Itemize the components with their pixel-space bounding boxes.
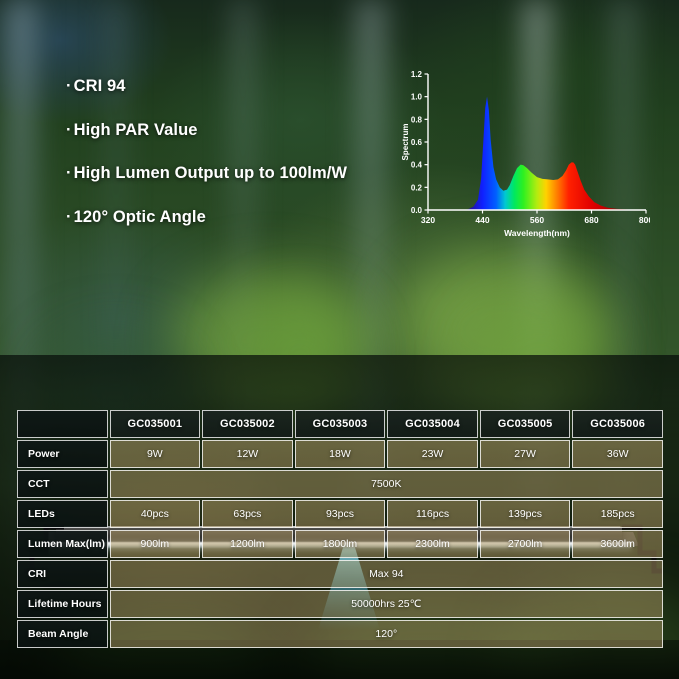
feature-item-par: ·High PAR Value (66, 122, 386, 139)
product-marketing-image: ·CRI 94 ·High PAR Value ·High Lumen Outp… (0, 0, 679, 679)
feature-text: High Lumen Output up to 100lm/W (74, 164, 348, 182)
row-value-cell: 12W (202, 440, 293, 468)
led-fixture (0, 255, 679, 365)
model-header-cell: GC035005 (480, 410, 571, 438)
model-header-cell: GC035003 (295, 410, 386, 438)
row-label-cell: CCT (17, 470, 108, 498)
row-value-cell: 93pcs (295, 500, 386, 528)
row-value-cell: 185pcs (572, 500, 663, 528)
row-value-cell: 2300lm (387, 530, 478, 558)
spectrum-chart: 0.00.20.40.60.81.01.2320440560680800Wave… (398, 62, 650, 240)
table-row: LEDs40pcs63pcs93pcs116pcs139pcs185pcs (17, 500, 663, 528)
row-label-cell: Beam Angle (17, 620, 108, 648)
row-value-cell: 27W (480, 440, 571, 468)
y-axis-tick-label: 0.8 (411, 115, 423, 124)
row-value-cell: 1800lm (295, 530, 386, 558)
row-value-cell: 63pcs (202, 500, 293, 528)
x-axis-tick-label: 560 (530, 215, 544, 225)
feature-item-optic-angle: ·120° Optic Angle (66, 209, 386, 226)
row-label-cell: Lumen Max(lm) (17, 530, 108, 558)
row-value-cell: 23W (387, 440, 478, 468)
x-axis-title: Wavelength(nm) (504, 228, 570, 238)
table-header-row: GC035001GC035002GC035003GC035004GC035005… (17, 410, 663, 438)
feature-item-lumen: ·High Lumen Output up to 100lm/W (66, 165, 386, 182)
feature-text: CRI 94 (74, 77, 126, 95)
table-row: Beam Angle120° (17, 620, 663, 648)
row-merged-value-cell: 7500K (110, 470, 663, 498)
row-value-cell: 9W (110, 440, 201, 468)
row-value-cell: 1200lm (202, 530, 293, 558)
table-row: CCT7500K (17, 470, 663, 498)
row-merged-value-cell: 120° (110, 620, 663, 648)
feature-item-cri: ·CRI 94 (66, 78, 386, 95)
row-label-cell: Lifetime Hours (17, 590, 108, 618)
row-value-cell: 40pcs (110, 500, 201, 528)
row-label-cell: CRI (17, 560, 108, 588)
x-axis-tick-label: 680 (584, 215, 598, 225)
row-value-cell: 18W (295, 440, 386, 468)
y-axis-title: Spectrum (401, 124, 410, 161)
model-header-cell: GC035001 (110, 410, 201, 438)
bullet-dot: · (66, 77, 72, 95)
table-corner-cell (17, 410, 108, 438)
bullet-dot: · (66, 121, 72, 139)
y-axis-tick-label: 0.0 (411, 206, 423, 215)
x-axis-tick-label: 440 (475, 215, 489, 225)
row-label-cell: Power (17, 440, 108, 468)
row-label-cell: LEDs (17, 500, 108, 528)
row-value-cell: 3600lm (572, 530, 663, 558)
row-merged-value-cell: 50000hrs 25℃ (110, 590, 663, 618)
y-axis-tick-label: 0.4 (411, 161, 423, 170)
table-row: Lumen Max(lm)900lm1200lm1800lm2300lm2700… (17, 530, 663, 558)
x-axis-tick-label: 800 (639, 215, 650, 225)
bullet-dot: · (66, 208, 72, 226)
row-value-cell: 139pcs (480, 500, 571, 528)
feature-list: ·CRI 94 ·High PAR Value ·High Lumen Outp… (66, 78, 386, 225)
row-value-cell: 2700lm (480, 530, 571, 558)
spectrum-curve (428, 97, 646, 210)
row-value-cell: 900lm (110, 530, 201, 558)
model-header-cell: GC035006 (572, 410, 663, 438)
x-axis-tick-label: 320 (421, 215, 435, 225)
feature-text: 120° Optic Angle (74, 208, 206, 226)
y-axis-tick-label: 1.2 (411, 70, 423, 79)
feature-text: High PAR Value (74, 121, 198, 139)
table-row: CRIMax 94 (17, 560, 663, 588)
spectrum-chart-svg: 0.00.20.40.60.81.01.2320440560680800Wave… (398, 62, 650, 240)
row-merged-value-cell: Max 94 (110, 560, 663, 588)
y-axis-tick-label: 1.0 (411, 93, 423, 102)
row-value-cell: 36W (572, 440, 663, 468)
y-axis-tick-label: 0.6 (411, 138, 423, 147)
y-axis-tick-label: 0.2 (411, 183, 423, 192)
specification-table: GC035001GC035002GC035003GC035004GC035005… (15, 408, 665, 650)
row-value-cell: 116pcs (387, 500, 478, 528)
bullet-dot: · (66, 164, 72, 182)
model-header-cell: GC035002 (202, 410, 293, 438)
model-header-cell: GC035004 (387, 410, 478, 438)
table-row: Lifetime Hours50000hrs 25℃ (17, 590, 663, 618)
table-row: Power9W12W18W23W27W36W (17, 440, 663, 468)
